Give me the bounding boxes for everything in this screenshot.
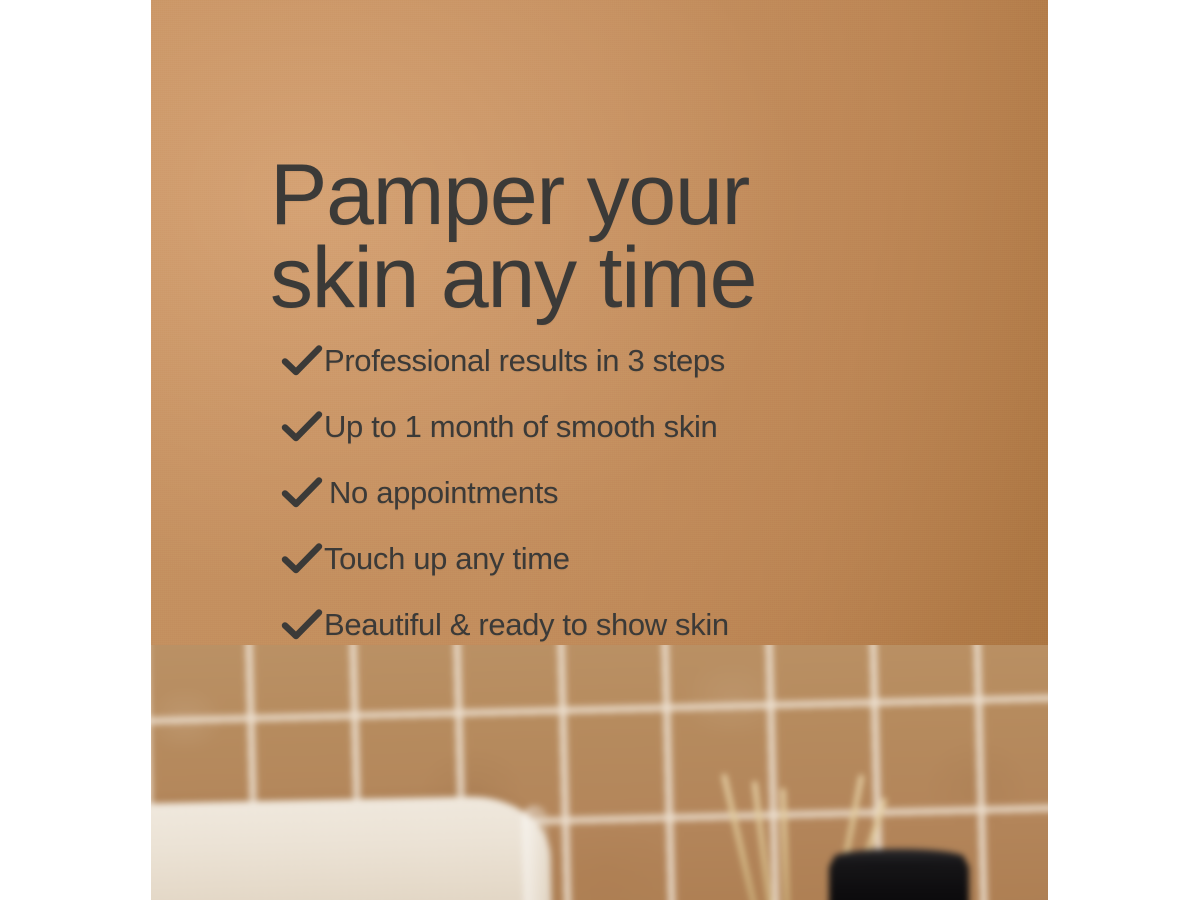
benefit-item-4: Touch up any time bbox=[280, 525, 729, 591]
spa-scene bbox=[151, 645, 1048, 900]
page-title: Pamper your skin any time bbox=[270, 154, 756, 321]
benefit-label: Up to 1 month of smooth skin bbox=[324, 411, 717, 442]
reed-stick bbox=[752, 781, 774, 900]
towel-texture bbox=[151, 795, 553, 900]
check-icon bbox=[280, 606, 324, 642]
benefit-item-3: No appointments bbox=[280, 459, 729, 525]
check-icon bbox=[280, 474, 324, 510]
check-icon bbox=[280, 408, 324, 444]
lit-candle bbox=[829, 856, 969, 900]
check-icon bbox=[280, 540, 324, 576]
benefit-label: Beautiful & ready to show skin bbox=[324, 609, 729, 640]
reed-stick bbox=[780, 788, 790, 900]
towel-edge bbox=[522, 805, 551, 900]
benefit-item-1: Professional results in 3 steps bbox=[280, 327, 729, 393]
benefit-list: Professional results in 3 steps Up to 1 … bbox=[280, 327, 729, 657]
candle-rim bbox=[833, 849, 965, 867]
page-canvas: Pamper your skin any time Professional r… bbox=[0, 0, 1200, 900]
benefit-item-5: Beautiful & ready to show skin bbox=[280, 591, 729, 657]
benefit-label: Professional results in 3 steps bbox=[324, 345, 725, 376]
rolled-towel bbox=[151, 795, 553, 900]
spa-scene-blur-layer bbox=[151, 645, 1048, 900]
promo-image: Pamper your skin any time Professional r… bbox=[151, 0, 1048, 900]
check-icon bbox=[280, 342, 324, 378]
benefit-item-2: Up to 1 month of smooth skin bbox=[280, 393, 729, 459]
benefit-label: Touch up any time bbox=[324, 543, 570, 574]
benefit-label: No appointments bbox=[324, 477, 558, 508]
